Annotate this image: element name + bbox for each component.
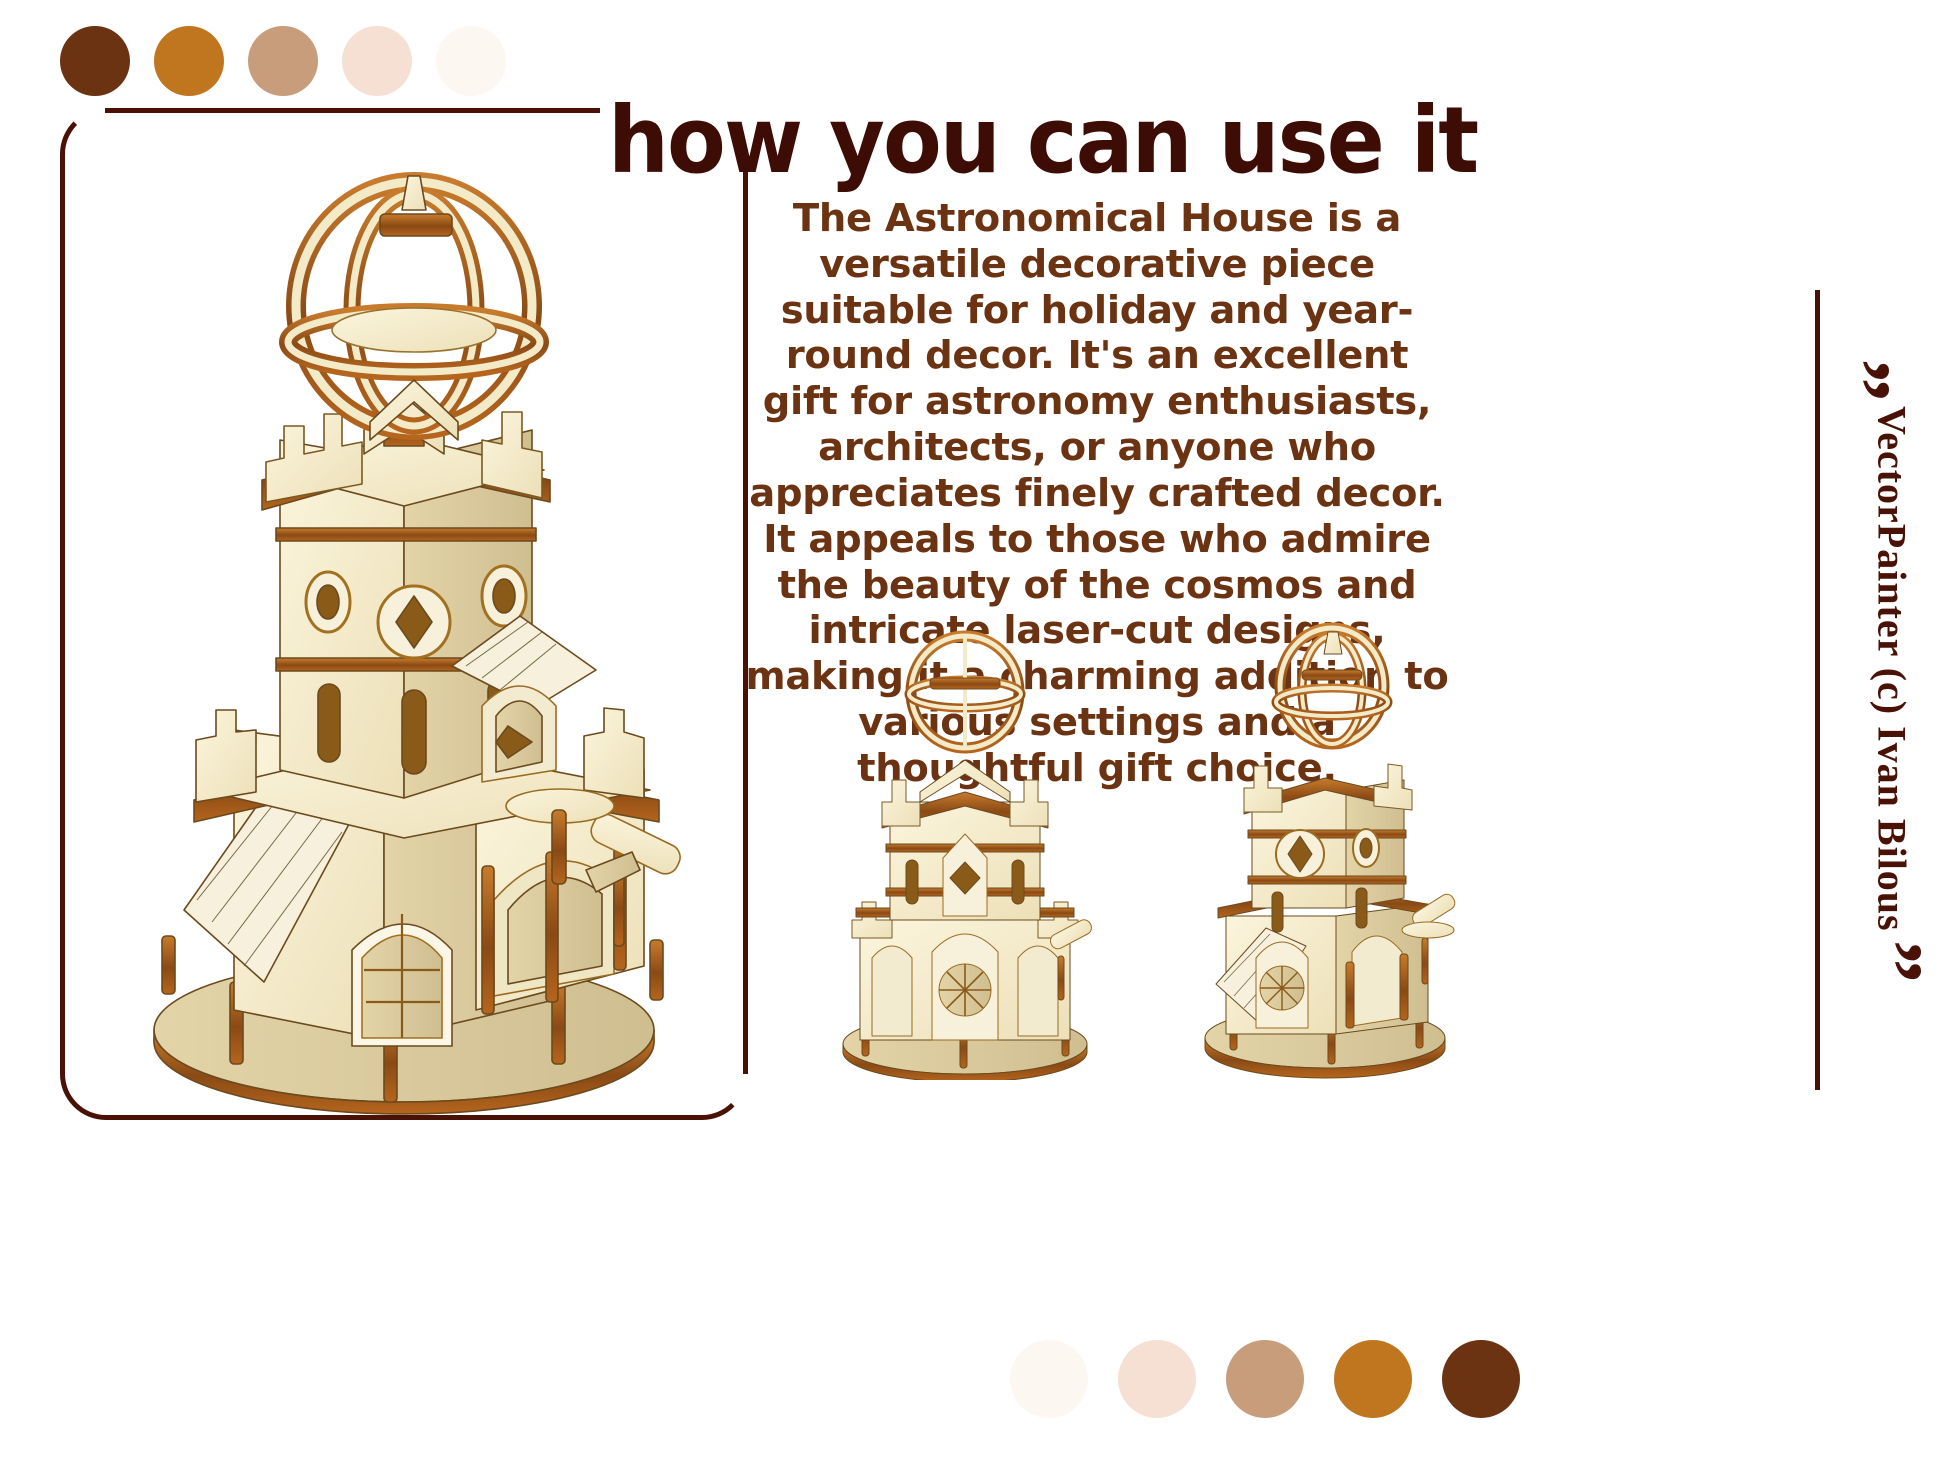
swatch-cream — [436, 26, 506, 96]
swatch-peach — [1118, 1340, 1196, 1418]
attribution-text: VectorPainter (c) Ivan Bilous — [1869, 406, 1916, 932]
quote-open-icon: “ — [1866, 330, 1918, 402]
model-alt-view-front — [800, 620, 1130, 1080]
page-title: how you can use it — [608, 96, 1445, 186]
swatch-tan — [1226, 1340, 1304, 1418]
model-main-view — [84, 110, 724, 1120]
swatch-orange — [1334, 1340, 1412, 1418]
quote-close-icon: ” — [1866, 940, 1918, 1012]
swatch-dark-brown — [60, 26, 130, 96]
color-palette-bottom — [1010, 1340, 1520, 1418]
swatch-dark-brown — [1442, 1340, 1520, 1418]
attribution-block: “ VectorPainter (c) Ivan Bilous ” — [1842, 330, 1942, 1070]
swatch-cream — [1010, 1340, 1088, 1418]
attribution-bracket — [1815, 290, 1820, 1090]
model-alt-view-side — [1160, 610, 1490, 1080]
color-palette-top — [60, 26, 506, 96]
swatch-orange — [154, 26, 224, 96]
swatch-peach — [342, 26, 412, 96]
swatch-tan — [248, 26, 318, 96]
